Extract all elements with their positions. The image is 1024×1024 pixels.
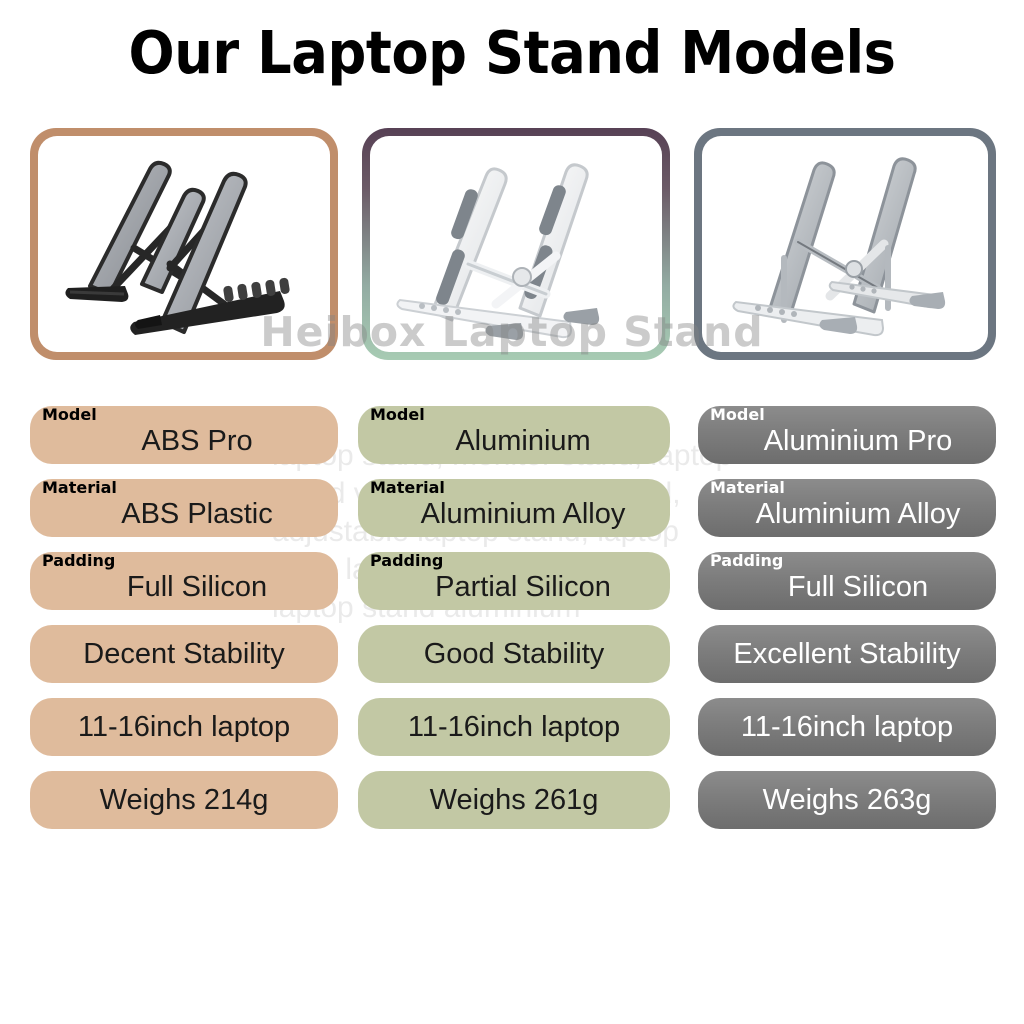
spec-value: Weighs 214g xyxy=(100,786,269,815)
spec-column-abs-pro: Model ABS Pro Material ABS Plastic Paddi… xyxy=(30,406,338,829)
spec-pill-model[interactable]: Model Aluminium xyxy=(358,406,670,464)
spec-pill-model[interactable]: Model ABS Pro xyxy=(30,406,338,464)
spec-value: Partial Silicon xyxy=(435,573,611,602)
spec-label: Padding xyxy=(710,551,783,571)
spec-value: Aluminium Alloy xyxy=(421,500,626,529)
white-laptop-stand-icon xyxy=(370,136,662,352)
spec-pill-material[interactable]: Material ABS Plastic xyxy=(30,479,338,537)
spec-pill-stability[interactable]: Excellent Stability xyxy=(698,625,996,683)
product-card-aluminium-pro[interactable] xyxy=(694,128,996,360)
spec-label: Material xyxy=(370,478,445,498)
product-card-aluminium[interactable] xyxy=(362,128,670,360)
spec-label: Model xyxy=(710,405,765,425)
spec-value: Aluminium xyxy=(455,427,590,456)
spec-value: Weighs 263g xyxy=(763,786,932,815)
spec-label: Material xyxy=(42,478,117,498)
spec-label: Material xyxy=(710,478,785,498)
spec-pill-stability[interactable]: Decent Stability xyxy=(30,625,338,683)
page-title: Our Laptop Stand Models xyxy=(41,18,983,87)
spec-value: Full Silicon xyxy=(127,573,267,602)
silver-laptop-stand-icon xyxy=(702,136,988,352)
spec-pill-compatibility[interactable]: 11-16inch laptop xyxy=(30,698,338,756)
spec-label: Padding xyxy=(370,551,443,571)
black-laptop-stand-icon xyxy=(38,136,330,352)
spec-pill-material[interactable]: Material Aluminium Alloy xyxy=(358,479,670,537)
spec-pill-compatibility[interactable]: 11-16inch laptop xyxy=(698,698,996,756)
spec-pill-stability[interactable]: Good Stability xyxy=(358,625,670,683)
spec-value: Good Stability xyxy=(424,640,605,669)
spec-pill-compatibility[interactable]: 11-16inch laptop xyxy=(358,698,670,756)
spec-pill-padding[interactable]: Padding Full Silicon xyxy=(30,552,338,610)
product-photo-aluminium xyxy=(370,136,662,352)
spec-pill-padding[interactable]: Padding Full Silicon xyxy=(698,552,996,610)
product-photo-abs-pro xyxy=(38,136,330,352)
spec-value: 11-16inch laptop xyxy=(741,713,953,742)
spec-value: 11-16inch laptop xyxy=(78,713,290,742)
product-image-cards xyxy=(0,128,1024,360)
spec-column-aluminium-pro: Model Aluminium Pro Material Aluminium A… xyxy=(698,406,996,829)
spec-value: ABS Pro xyxy=(141,427,252,456)
spec-value: Weighs 261g xyxy=(430,786,599,815)
laptop-stand-comparison-page: Our Laptop Stand Models xyxy=(0,0,1024,1024)
spec-label: Model xyxy=(370,405,425,425)
spec-value: Decent Stability xyxy=(83,640,285,669)
spec-pill-padding[interactable]: Padding Partial Silicon xyxy=(358,552,670,610)
spec-column-aluminium: Model Aluminium Material Aluminium Alloy… xyxy=(358,406,670,829)
spec-pill-model[interactable]: Model Aluminium Pro xyxy=(698,406,996,464)
spec-value: Excellent Stability xyxy=(733,640,960,669)
spec-value: Aluminium Pro xyxy=(764,427,953,456)
product-card-abs-pro[interactable] xyxy=(30,128,338,360)
spec-pill-weight[interactable]: Weighs 214g xyxy=(30,771,338,829)
spec-columns: Model ABS Pro Material ABS Plastic Paddi… xyxy=(0,406,1024,906)
spec-value: ABS Plastic xyxy=(121,500,273,529)
spec-label: Model xyxy=(42,405,97,425)
product-photo-aluminium-pro xyxy=(702,136,988,352)
spec-value: Aluminium Alloy xyxy=(756,500,961,529)
spec-value: Full Silicon xyxy=(788,573,928,602)
spec-value: 11-16inch laptop xyxy=(408,713,620,742)
spec-pill-weight[interactable]: Weighs 263g xyxy=(698,771,996,829)
spec-pill-weight[interactable]: Weighs 261g xyxy=(358,771,670,829)
spec-label: Padding xyxy=(42,551,115,571)
spec-pill-material[interactable]: Material Aluminium Alloy xyxy=(698,479,996,537)
